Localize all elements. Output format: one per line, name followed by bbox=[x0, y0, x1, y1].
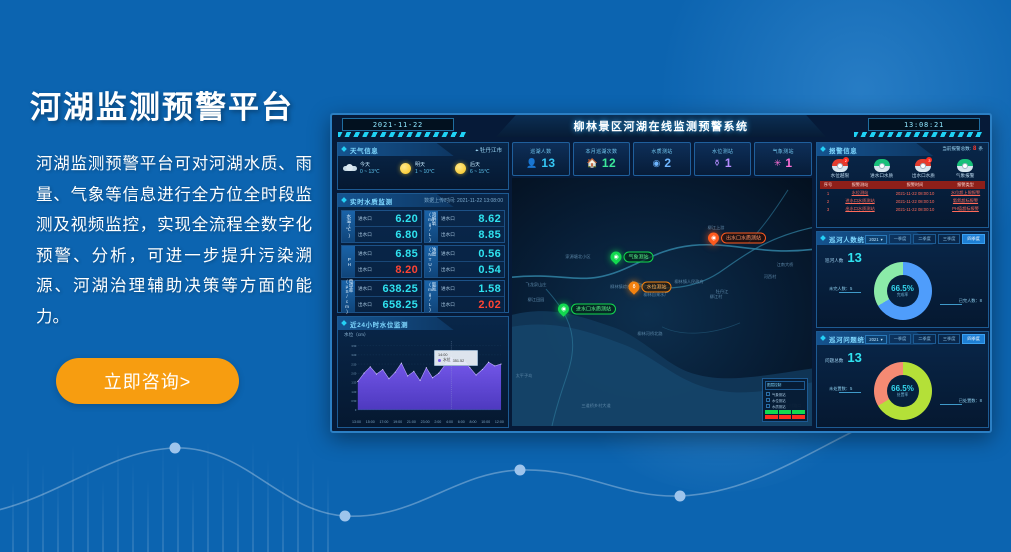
metric-name: 电导率(μS/cm) bbox=[342, 281, 355, 312]
donut-total-label: 巡河人数 bbox=[825, 258, 843, 264]
water-level-x-axis: 13:0015:0017:0019:0021:0023:002:004:006:… bbox=[352, 420, 504, 424]
weather-day-1: 明天1 ~ 10℃ bbox=[398, 161, 450, 176]
alarm-column-header: 报警类型 bbox=[946, 182, 985, 188]
map-place-label: 柳林河桥北路 bbox=[637, 331, 662, 337]
gauge-icon: ⚱ bbox=[713, 159, 721, 168]
donut-left-leader-line bbox=[839, 392, 861, 393]
stat-value: 12 bbox=[602, 156, 616, 170]
alarm-row-no: 3 bbox=[820, 207, 836, 212]
alarm-column-header: 报警时间 bbox=[884, 182, 946, 188]
stat-label: 本月巡湖次数 bbox=[585, 148, 617, 155]
x-tick-label: 2:00 bbox=[434, 420, 441, 424]
stat-label: 巡湖人数 bbox=[530, 148, 551, 155]
water-quality-cell: 水温(℃)进水口6.20出水口6.80 bbox=[341, 210, 422, 243]
x-tick-label: 23:00 bbox=[421, 420, 430, 424]
svg-text:1.00: 1.00 bbox=[351, 390, 357, 394]
donut-right-note: 已处置数：8 bbox=[959, 398, 982, 404]
water-level-panel-title: 近24小时水位监测 bbox=[338, 317, 508, 330]
stat-label: 气象测站 bbox=[773, 148, 794, 155]
table-row[interactable]: 3出水口水质测站2021-11-22 08:00:10PH值超标报警 bbox=[820, 205, 985, 213]
map-marker-label: 进水口水质测站 bbox=[571, 304, 616, 315]
water-quality-cell: 浊度(NTU)进水口0.56出水口0.54 bbox=[424, 245, 505, 278]
water-quality-cell: PH进水口6.85出水口8.20 bbox=[341, 245, 422, 278]
weather-day-2: 后天6 ~ 15℃ bbox=[453, 161, 505, 176]
alarm-table: 序号报警测站报警时间报警类型1水位测站2021-11-22 08:00:10水位… bbox=[817, 181, 988, 213]
water-quality-upload-time: 数据上传时间: 2021-11-22 13:08:00 bbox=[424, 197, 503, 204]
map-marker-label: 出水口水质测站 bbox=[721, 232, 766, 243]
stat-value: 1 bbox=[785, 156, 792, 170]
svg-text:0.50: 0.50 bbox=[351, 399, 357, 403]
metric-value-out: 0.54 bbox=[478, 264, 501, 276]
location-pin-icon: ⌖ bbox=[475, 148, 478, 154]
donut-total-value: 13 bbox=[847, 250, 861, 265]
alarm-row-time: 2021-11-22 08:00:10 bbox=[884, 191, 946, 196]
stat-card-水质测站[interactable]: 水质测站◉2 bbox=[633, 142, 691, 176]
port-in-label: 进水口 bbox=[441, 286, 455, 292]
donut-center-sub: 完成率 bbox=[897, 293, 908, 298]
x-tick-label: 17:00 bbox=[379, 420, 388, 424]
water-drop-icon: ◉ bbox=[653, 159, 661, 168]
port-out-label: 出水口 bbox=[358, 267, 372, 273]
metric-value-out: 8.85 bbox=[478, 229, 501, 241]
tooltip-series-dot-icon bbox=[438, 359, 441, 362]
stat-value: 2 bbox=[664, 156, 671, 170]
donut-right-leader-line bbox=[940, 304, 962, 305]
quarter-tab-二季度[interactable]: 二季度 bbox=[913, 234, 936, 244]
windmill-icon: ✳ bbox=[774, 159, 782, 168]
map-marker-出水口水质测站[interactable]: ◉出水口水质测站 bbox=[708, 232, 766, 243]
x-tick-label: 4:00 bbox=[446, 420, 453, 424]
stat-card-巡湖人数[interactable]: 巡湖人数👤13 bbox=[512, 142, 570, 176]
quarter-tab-二季度[interactable]: 二季度 bbox=[913, 334, 936, 344]
alarm-row-no: 1 bbox=[820, 191, 836, 196]
calendar-icon: 🏠 bbox=[587, 159, 598, 168]
quarter-tab-一季度[interactable]: 一季度 bbox=[889, 234, 912, 244]
donut-left-note: 未完人数：5 bbox=[829, 286, 852, 292]
legend-checkbox[interactable] bbox=[766, 398, 770, 402]
map-pin-icon: ◉ bbox=[556, 302, 572, 318]
donut-percent: 66.5% bbox=[891, 284, 914, 293]
quarter-tab-三季度[interactable]: 三季度 bbox=[938, 334, 961, 344]
quarter-tab-三季度[interactable]: 三季度 bbox=[938, 234, 961, 244]
x-tick-label: 15:00 bbox=[366, 420, 375, 424]
alarm-badge: 3 bbox=[926, 157, 932, 163]
x-tick-label: 6:00 bbox=[458, 420, 465, 424]
alarm-row-type: 氨氮超标报警 bbox=[946, 198, 985, 204]
water-quality-cell: 电导率(μS/cm)进水口638.25出水口658.25 bbox=[341, 280, 422, 313]
dashboard-topbar: 2021-11-22 柳林景区河湖在线监测预警系统 13:08:21 bbox=[332, 115, 990, 140]
weather-temp: 6 ~ 15℃ bbox=[470, 169, 490, 175]
map-place-label: 家源塘北小区 bbox=[565, 254, 590, 260]
stat-card-气象测站[interactable]: 气象测站✳1 bbox=[754, 142, 812, 176]
person-icon: 👤 bbox=[526, 159, 537, 168]
map-place-label: 柳林镇人民政府 bbox=[674, 279, 703, 285]
metric-name: 溶解氧(mg/L) bbox=[425, 211, 438, 242]
alarm-indicator-label: 气象报警 bbox=[956, 173, 974, 179]
alarm-row-type: PH值超标报警 bbox=[946, 206, 985, 212]
port-in-label: 进水口 bbox=[441, 216, 455, 222]
alarm-status-icon bbox=[874, 159, 890, 172]
patrol-people-stats-panel: 巡河人数统计2021▾一季度二季度三季度四季度巡河人数1366.5%完成率未完人… bbox=[816, 231, 989, 328]
alarm-indicator-label: 进水口水质 bbox=[870, 173, 893, 179]
weather-forecast-row: 今天0 ~ 13℃明天1 ~ 10℃后天6 ~ 15℃ bbox=[338, 156, 508, 176]
map-pin-icon: ◉ bbox=[608, 250, 624, 266]
water-level-plot: 00.501.001.502.002.503.003.50 bbox=[342, 337, 504, 414]
water-quality-grid: 水温(℃)进水口6.20出水口6.80溶解氧(mg/L)进水口8.62出水口8.… bbox=[338, 207, 508, 316]
metric-name: PH bbox=[342, 246, 355, 277]
quarter-tab-四季度[interactable]: 四季度 bbox=[962, 334, 985, 344]
alarm-status-icon bbox=[957, 159, 973, 172]
map-place-label: 柳江田园 bbox=[528, 297, 545, 303]
quarter-tab-四季度[interactable]: 四季度 bbox=[962, 234, 985, 244]
stat-value: 1 bbox=[725, 156, 732, 170]
metric-value-in: 6.20 bbox=[395, 213, 418, 225]
map-place-label: 柳江上游 bbox=[708, 225, 725, 231]
alarm-row-station: 出水口水质测站 bbox=[836, 206, 884, 212]
alarm-badge: 2 bbox=[843, 157, 849, 163]
patrol-issue-stats-panel: 巡河问题统计2021▾一季度二季度三季度四季度问题总数1366.5%处置率未处置… bbox=[816, 331, 989, 428]
metric-value-in: 8.62 bbox=[478, 213, 501, 225]
alarm-row-type: 水位超上限报警 bbox=[946, 190, 985, 196]
stat-label: 水位测站 bbox=[712, 148, 733, 155]
map-place-label: 太平子岛 bbox=[516, 373, 533, 379]
year-select[interactable]: 2021▾ bbox=[865, 335, 886, 344]
alarm-column-header: 报警测站 bbox=[836, 182, 884, 188]
donut-percent: 66.5% bbox=[891, 384, 914, 393]
port-in-label: 进水口 bbox=[358, 286, 372, 292]
legend-item[interactable]: 水质测站 bbox=[765, 403, 805, 409]
alarm-row-station: 水位测站 bbox=[836, 190, 884, 196]
donut-total: 巡河人数13 bbox=[825, 250, 862, 265]
dashboard-screenshot: 2021-11-22 柳林景区河湖在线监测预警系统 13:08:21 天气信息 … bbox=[330, 113, 992, 433]
map-view[interactable]: 飞龙泉山庄柳江田园家源塘北小区柳林镇综合服务中心柳林自来水厂柳林镇人民政府柳林河… bbox=[512, 178, 812, 426]
port-out-label: 出水口 bbox=[441, 232, 455, 238]
x-tick-label: 19:00 bbox=[393, 420, 402, 424]
legend-checkbox[interactable] bbox=[766, 392, 770, 396]
svg-text:1.50: 1.50 bbox=[351, 381, 357, 385]
donut-right-note: 已完人数：8 bbox=[959, 298, 982, 304]
map-marker-label: 气象测站 bbox=[623, 252, 653, 263]
hero-section: 河湖监测预警平台 河湖监测预警平台可对河湖水质、雨量、气象等信息进行全方位全时段… bbox=[30, 82, 315, 404]
hero-description: 河湖监测预警平台可对河湖水质、雨量、气象等信息进行全方位全时段监测及视频监控，实… bbox=[30, 149, 315, 332]
sun-icon bbox=[453, 161, 468, 176]
stat-cards: 巡湖人数👤13本月巡湖次数🏠12水质测站◉2水位测站⚱1气象测站✳1 bbox=[512, 142, 812, 176]
header-time: 13:08:21 bbox=[868, 118, 980, 131]
map-place-label: 飞龙泉山庄 bbox=[526, 282, 547, 288]
stat-value: 13 bbox=[541, 156, 555, 170]
alarm-indicator-row: 2水位越限进水口水质3出水口水质气象报警 bbox=[817, 156, 988, 181]
svg-text:2.50: 2.50 bbox=[351, 362, 357, 366]
donut-chart[interactable]: 66.5%处置率 bbox=[874, 362, 932, 420]
map-marker-进水口水质测站[interactable]: ◉进水口水质测站 bbox=[558, 304, 616, 315]
metric-value-in: 6.85 bbox=[395, 248, 418, 260]
alarm-indicator-进水口水质[interactable]: 进水口水质 bbox=[863, 159, 901, 179]
alarm-total-count: 当前报警总数: 8 条 bbox=[942, 146, 983, 152]
map-place-label: 牡丹江 bbox=[716, 289, 729, 295]
donut-controls: 2021▾一季度二季度三季度四季度 bbox=[865, 334, 985, 344]
water-level-area-chart: 00.501.001.502.002.503.003.50 bbox=[342, 337, 504, 414]
svg-text:0: 0 bbox=[355, 408, 357, 412]
water-quality-cell: 溶解氧(mg/L)进水口8.62出水口8.85 bbox=[424, 210, 505, 243]
metric-value-out: 8.20 bbox=[395, 264, 418, 276]
table-row[interactable]: 2进水口水质测站2021-11-22 08:00:10氨氮超标报警 bbox=[820, 197, 985, 205]
map-place-label: 河西村 bbox=[764, 274, 777, 280]
stat-card-水位测站[interactable]: 水位测站⚱1 bbox=[694, 142, 752, 176]
port-in-label: 进水口 bbox=[358, 251, 372, 257]
metric-value-in: 1.58 bbox=[478, 283, 501, 295]
donut-left-note: 未处置数：5 bbox=[829, 386, 852, 392]
port-out-label: 出水口 bbox=[441, 267, 455, 273]
port-in-label: 进水口 bbox=[358, 216, 372, 222]
year-select[interactable]: 2021▾ bbox=[865, 235, 886, 244]
weather-panel: 天气信息 ⌖ 牡丹江市 今天0 ~ 13℃明天1 ~ 10℃后天6 ~ 15℃ bbox=[337, 142, 509, 190]
cloud-snow-icon bbox=[343, 161, 358, 176]
svg-text:2.00: 2.00 bbox=[351, 371, 357, 375]
port-out-label: 出水口 bbox=[358, 302, 372, 308]
donut-chart[interactable]: 66.5%完成率 bbox=[874, 262, 932, 320]
donut-center-sub: 处置率 bbox=[897, 393, 908, 398]
metric-name: 浊度(NTU) bbox=[425, 246, 438, 277]
water-quality-panel: 实时水质监测 数据上传时间: 2021-11-22 13:08:00 水温(℃)… bbox=[337, 193, 509, 313]
alarm-indicator-出水口水质[interactable]: 3出水口水质 bbox=[904, 159, 942, 179]
stat-label: 水质测站 bbox=[651, 148, 672, 155]
stripe-left-decoration bbox=[338, 132, 468, 137]
chevron-down-icon: ▾ bbox=[881, 237, 883, 242]
svg-text:3.00: 3.00 bbox=[351, 353, 357, 357]
svg-text:3.50: 3.50 bbox=[351, 344, 357, 348]
table-row[interactable]: 1水位测站2021-11-22 08:00:10水位超上限报警 bbox=[820, 189, 985, 197]
chevron-down-icon: ▾ bbox=[881, 337, 883, 342]
header-date: 2021-11-22 bbox=[342, 118, 454, 131]
x-tick-label: 13:00 bbox=[352, 420, 361, 424]
alarm-panel: 报警信息 当前报警总数: 8 条 2水位越限进水口水质3出水口水质气象报警 序号… bbox=[816, 142, 989, 228]
weather-temp: 1 ~ 10℃ bbox=[415, 169, 435, 175]
port-out-label: 出水口 bbox=[441, 302, 455, 308]
alarm-table-header: 序号报警测站报警时间报警类型 bbox=[820, 181, 985, 189]
page-title: 河湖监测预警平台 bbox=[30, 82, 315, 127]
legend-title: 图层控制 bbox=[765, 381, 805, 390]
map-marker-label: 水位测站 bbox=[641, 282, 671, 293]
donut-total: 问题总数13 bbox=[825, 350, 862, 365]
alarm-status-icon: 3 bbox=[915, 159, 931, 172]
alarm-row-station: 进水口水质测站 bbox=[836, 198, 884, 204]
water-level-tooltip: 14:00 水位 351.52 bbox=[434, 350, 478, 366]
stat-card-本月巡湖次数[interactable]: 本月巡湖次数🏠12 bbox=[573, 142, 631, 176]
alarm-row-time: 2021-11-22 08:00:10 bbox=[884, 207, 946, 212]
map-marker-水位测站[interactable]: ⚱水位测站 bbox=[628, 282, 671, 293]
alarm-row-time: 2021-11-22 08:00:10 bbox=[884, 199, 946, 204]
water-level-chart-panel: 近24小时水位监测 水位（cm） 00.501.001.502.002.503.… bbox=[337, 316, 509, 428]
map-pin-icon: ⚱ bbox=[626, 279, 642, 295]
alarm-indicator-label: 水位越限 bbox=[831, 173, 849, 179]
sun-icon bbox=[398, 161, 413, 176]
metric-value-in: 0.56 bbox=[478, 248, 501, 260]
metric-value-out: 2.02 bbox=[478, 299, 501, 311]
alarm-status-icon: 2 bbox=[832, 159, 848, 172]
consult-now-button[interactable]: 立即咨询> bbox=[56, 358, 239, 404]
map-place-label: 江南大桥 bbox=[777, 262, 794, 268]
metric-name: 水温(℃) bbox=[342, 211, 355, 242]
x-tick-label: 21:00 bbox=[407, 420, 416, 424]
x-tick-label: 10:00 bbox=[481, 420, 490, 424]
donut-controls: 2021▾一季度二季度三季度四季度 bbox=[865, 234, 985, 244]
alarm-indicator-气象报警[interactable]: 气象报警 bbox=[946, 159, 984, 179]
metric-value-out: 6.80 bbox=[395, 229, 418, 241]
x-tick-label: 8:00 bbox=[469, 420, 476, 424]
map-marker-气象测站[interactable]: ◉气象测站 bbox=[610, 252, 653, 263]
weather-location: ⌖ 牡丹江市 bbox=[475, 146, 502, 155]
x-tick-label: 12:00 bbox=[495, 420, 504, 424]
donut-right-leader-line bbox=[940, 404, 962, 405]
alarm-row-no: 2 bbox=[820, 199, 836, 204]
water-quality-cell: 氨氮(mg/L)进水口1.58出水口2.02 bbox=[424, 280, 505, 313]
stripe-right-decoration bbox=[854, 132, 984, 137]
port-out-label: 出水口 bbox=[358, 232, 372, 238]
alarm-column-header: 序号 bbox=[820, 182, 836, 188]
alarm-indicator-水位越限[interactable]: 2水位越限 bbox=[821, 159, 859, 179]
map-layer-legend[interactable]: 图层控制 气象测站水位测站水质测站 bbox=[762, 378, 808, 422]
legend-checkbox[interactable] bbox=[766, 404, 770, 408]
metric-name: 氨氮(mg/L) bbox=[425, 281, 438, 312]
donut-left-leader-line bbox=[839, 292, 861, 293]
legend-status-swatches bbox=[765, 410, 805, 419]
map-pin-icon: ◉ bbox=[706, 230, 722, 246]
donut-total-value: 13 bbox=[847, 350, 861, 365]
weather-day-0: 今天0 ~ 13℃ bbox=[343, 161, 395, 176]
weather-temp: 0 ~ 13℃ bbox=[360, 169, 380, 175]
metric-value-in: 638.25 bbox=[383, 283, 418, 295]
port-in-label: 进水口 bbox=[441, 251, 455, 257]
donut-total-label: 问题总数 bbox=[825, 358, 843, 364]
quarter-tab-一季度[interactable]: 一季度 bbox=[889, 334, 912, 344]
metric-value-out: 658.25 bbox=[383, 299, 418, 311]
alarm-indicator-label: 出水口水质 bbox=[912, 173, 935, 179]
dashboard-title: 柳林景区河湖在线监测预警系统 bbox=[496, 115, 826, 137]
map-place-label: 三道桥乡村大道 bbox=[581, 403, 610, 409]
